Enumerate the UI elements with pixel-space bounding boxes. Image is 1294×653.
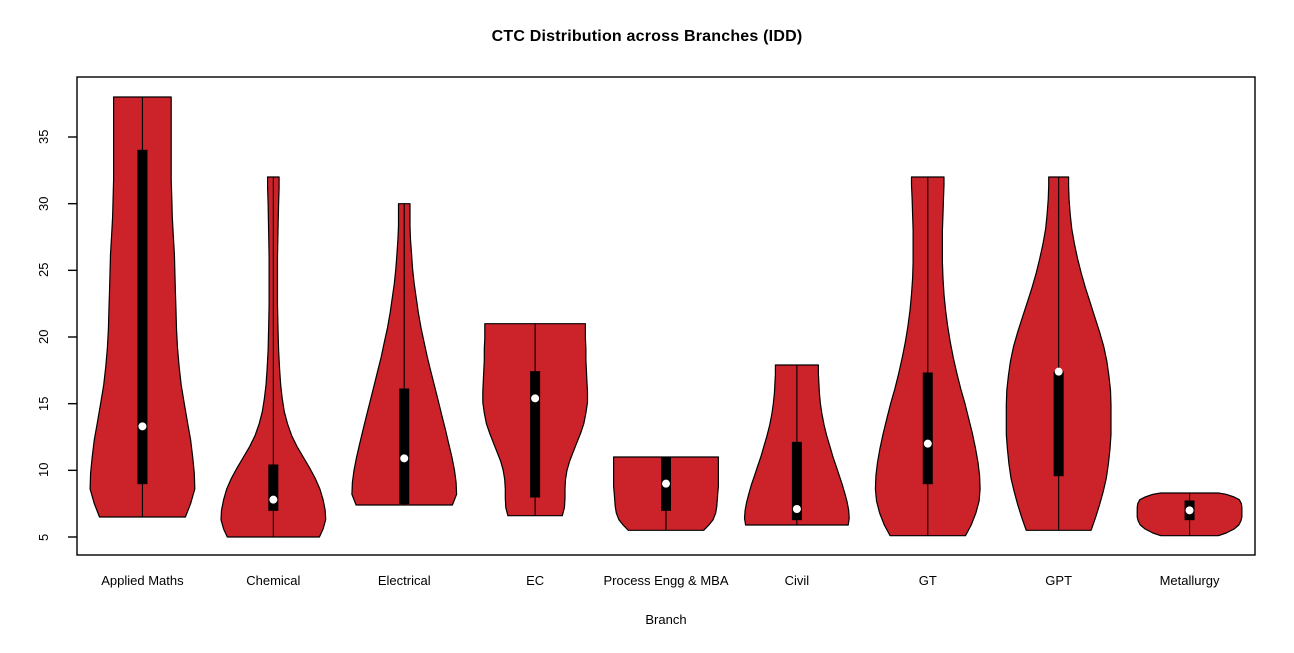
y-tick-label: 15 [35, 388, 65, 420]
violin-applied-maths [90, 97, 195, 517]
violin-metallurgy [1137, 493, 1242, 536]
violin-median-point [531, 394, 539, 402]
violin-median-point [138, 422, 146, 430]
violin-chemical [221, 177, 326, 537]
violin-gt [875, 177, 980, 536]
x-tick-label: Process Engg & MBA [604, 573, 729, 588]
violin-layer [90, 97, 1242, 537]
violin-iqr-box [923, 373, 932, 484]
x-tick-label: Electrical [378, 573, 431, 588]
x-tick-label: Applied Maths [101, 573, 183, 588]
violin-civil [745, 365, 850, 525]
y-tick-label: 25 [35, 254, 65, 286]
x-tick-label: GPT [1045, 573, 1072, 588]
y-tick-label: 10 [35, 454, 65, 486]
chart-title: CTC Distribution across Branches (IDD) [0, 28, 1294, 46]
violin-median-point [400, 454, 408, 462]
violin-ec [483, 324, 588, 516]
plot-canvas [0, 0, 1294, 653]
violin-median-point [924, 440, 932, 448]
x-tick-label: Chemical [246, 573, 300, 588]
violin-iqr-box [138, 150, 147, 483]
violin-median-point [662, 480, 670, 488]
violin-median-point [1186, 506, 1194, 514]
y-tick-label: 35 [35, 121, 65, 153]
axis-layer [68, 137, 77, 537]
y-tick-label: 5 [35, 521, 65, 553]
violin-iqr-box [531, 372, 540, 497]
violin-electrical [352, 204, 457, 505]
violin-plot-figure: CTC Distribution across Branches (IDD) C… [0, 0, 1294, 653]
violin-iqr-box [1054, 372, 1063, 476]
violin-process-engg-mba [614, 457, 719, 530]
violin-median-point [793, 505, 801, 513]
x-tick-label: Metallurgy [1160, 573, 1220, 588]
violin-gpt [1006, 177, 1111, 530]
violin-median-point [1055, 368, 1063, 376]
x-axis-title: Branch [77, 612, 1255, 627]
x-tick-label: Civil [785, 573, 810, 588]
y-tick-label: 20 [35, 321, 65, 353]
x-tick-label: EC [526, 573, 544, 588]
y-tick-label: 30 [35, 188, 65, 220]
violin-median-point [269, 496, 277, 504]
x-tick-label: GT [919, 573, 937, 588]
violin-iqr-box [400, 389, 409, 504]
